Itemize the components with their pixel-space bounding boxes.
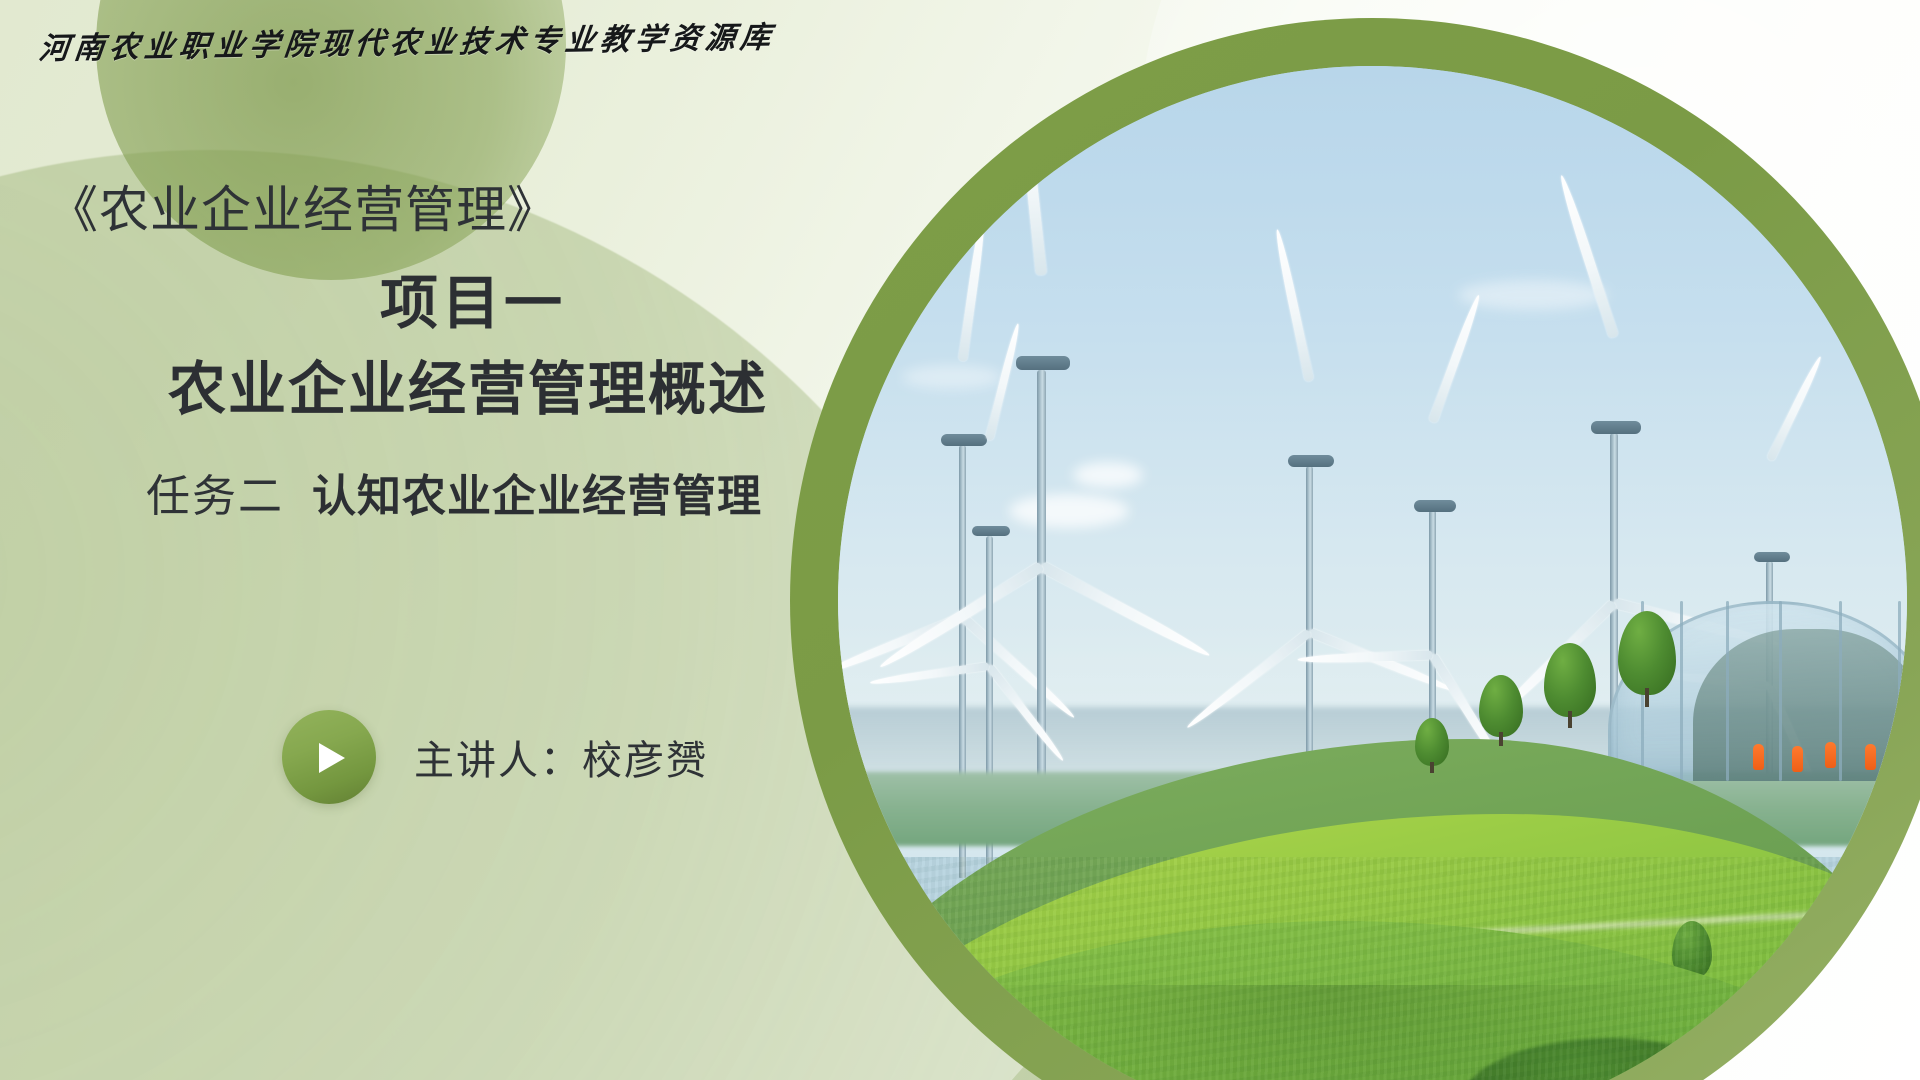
task-name: 认知农业企业经营管理 xyxy=(312,460,762,524)
hero-photo-ring xyxy=(790,18,1920,1080)
landscape-scene xyxy=(838,66,1907,1080)
presentation-slide: 河南农业职业学院现代农业技术专业教学资源库 《农业企业经营管理》 项目一 农业企… xyxy=(0,0,1920,1080)
course-title: 《农业企业经营管理》 xyxy=(48,170,558,242)
presenter-name: 主讲人：校彦赟 xyxy=(414,728,708,786)
project-title: 农业企业经营管理概述 xyxy=(168,342,768,426)
task-label: 任务二 xyxy=(146,460,284,524)
institution-brand-header: 河南农业职业学院现代农业技术专业教学资源库 xyxy=(37,12,778,68)
project-number: 项目一 xyxy=(380,256,566,340)
worker-figure xyxy=(1792,746,1803,772)
hero-photo xyxy=(838,66,1907,1080)
worker-figure xyxy=(1865,744,1876,770)
play-triangle-icon xyxy=(319,743,345,773)
grass-texture xyxy=(838,857,1907,1080)
task-row: 任务二 认知农业企业经营管理 xyxy=(146,460,762,524)
tree xyxy=(1544,643,1596,717)
worker-figure xyxy=(1825,742,1836,768)
play-button[interactable] xyxy=(282,710,376,804)
presenter-row: 主讲人：校彦赟 xyxy=(282,710,708,804)
worker-figure xyxy=(1753,744,1764,770)
